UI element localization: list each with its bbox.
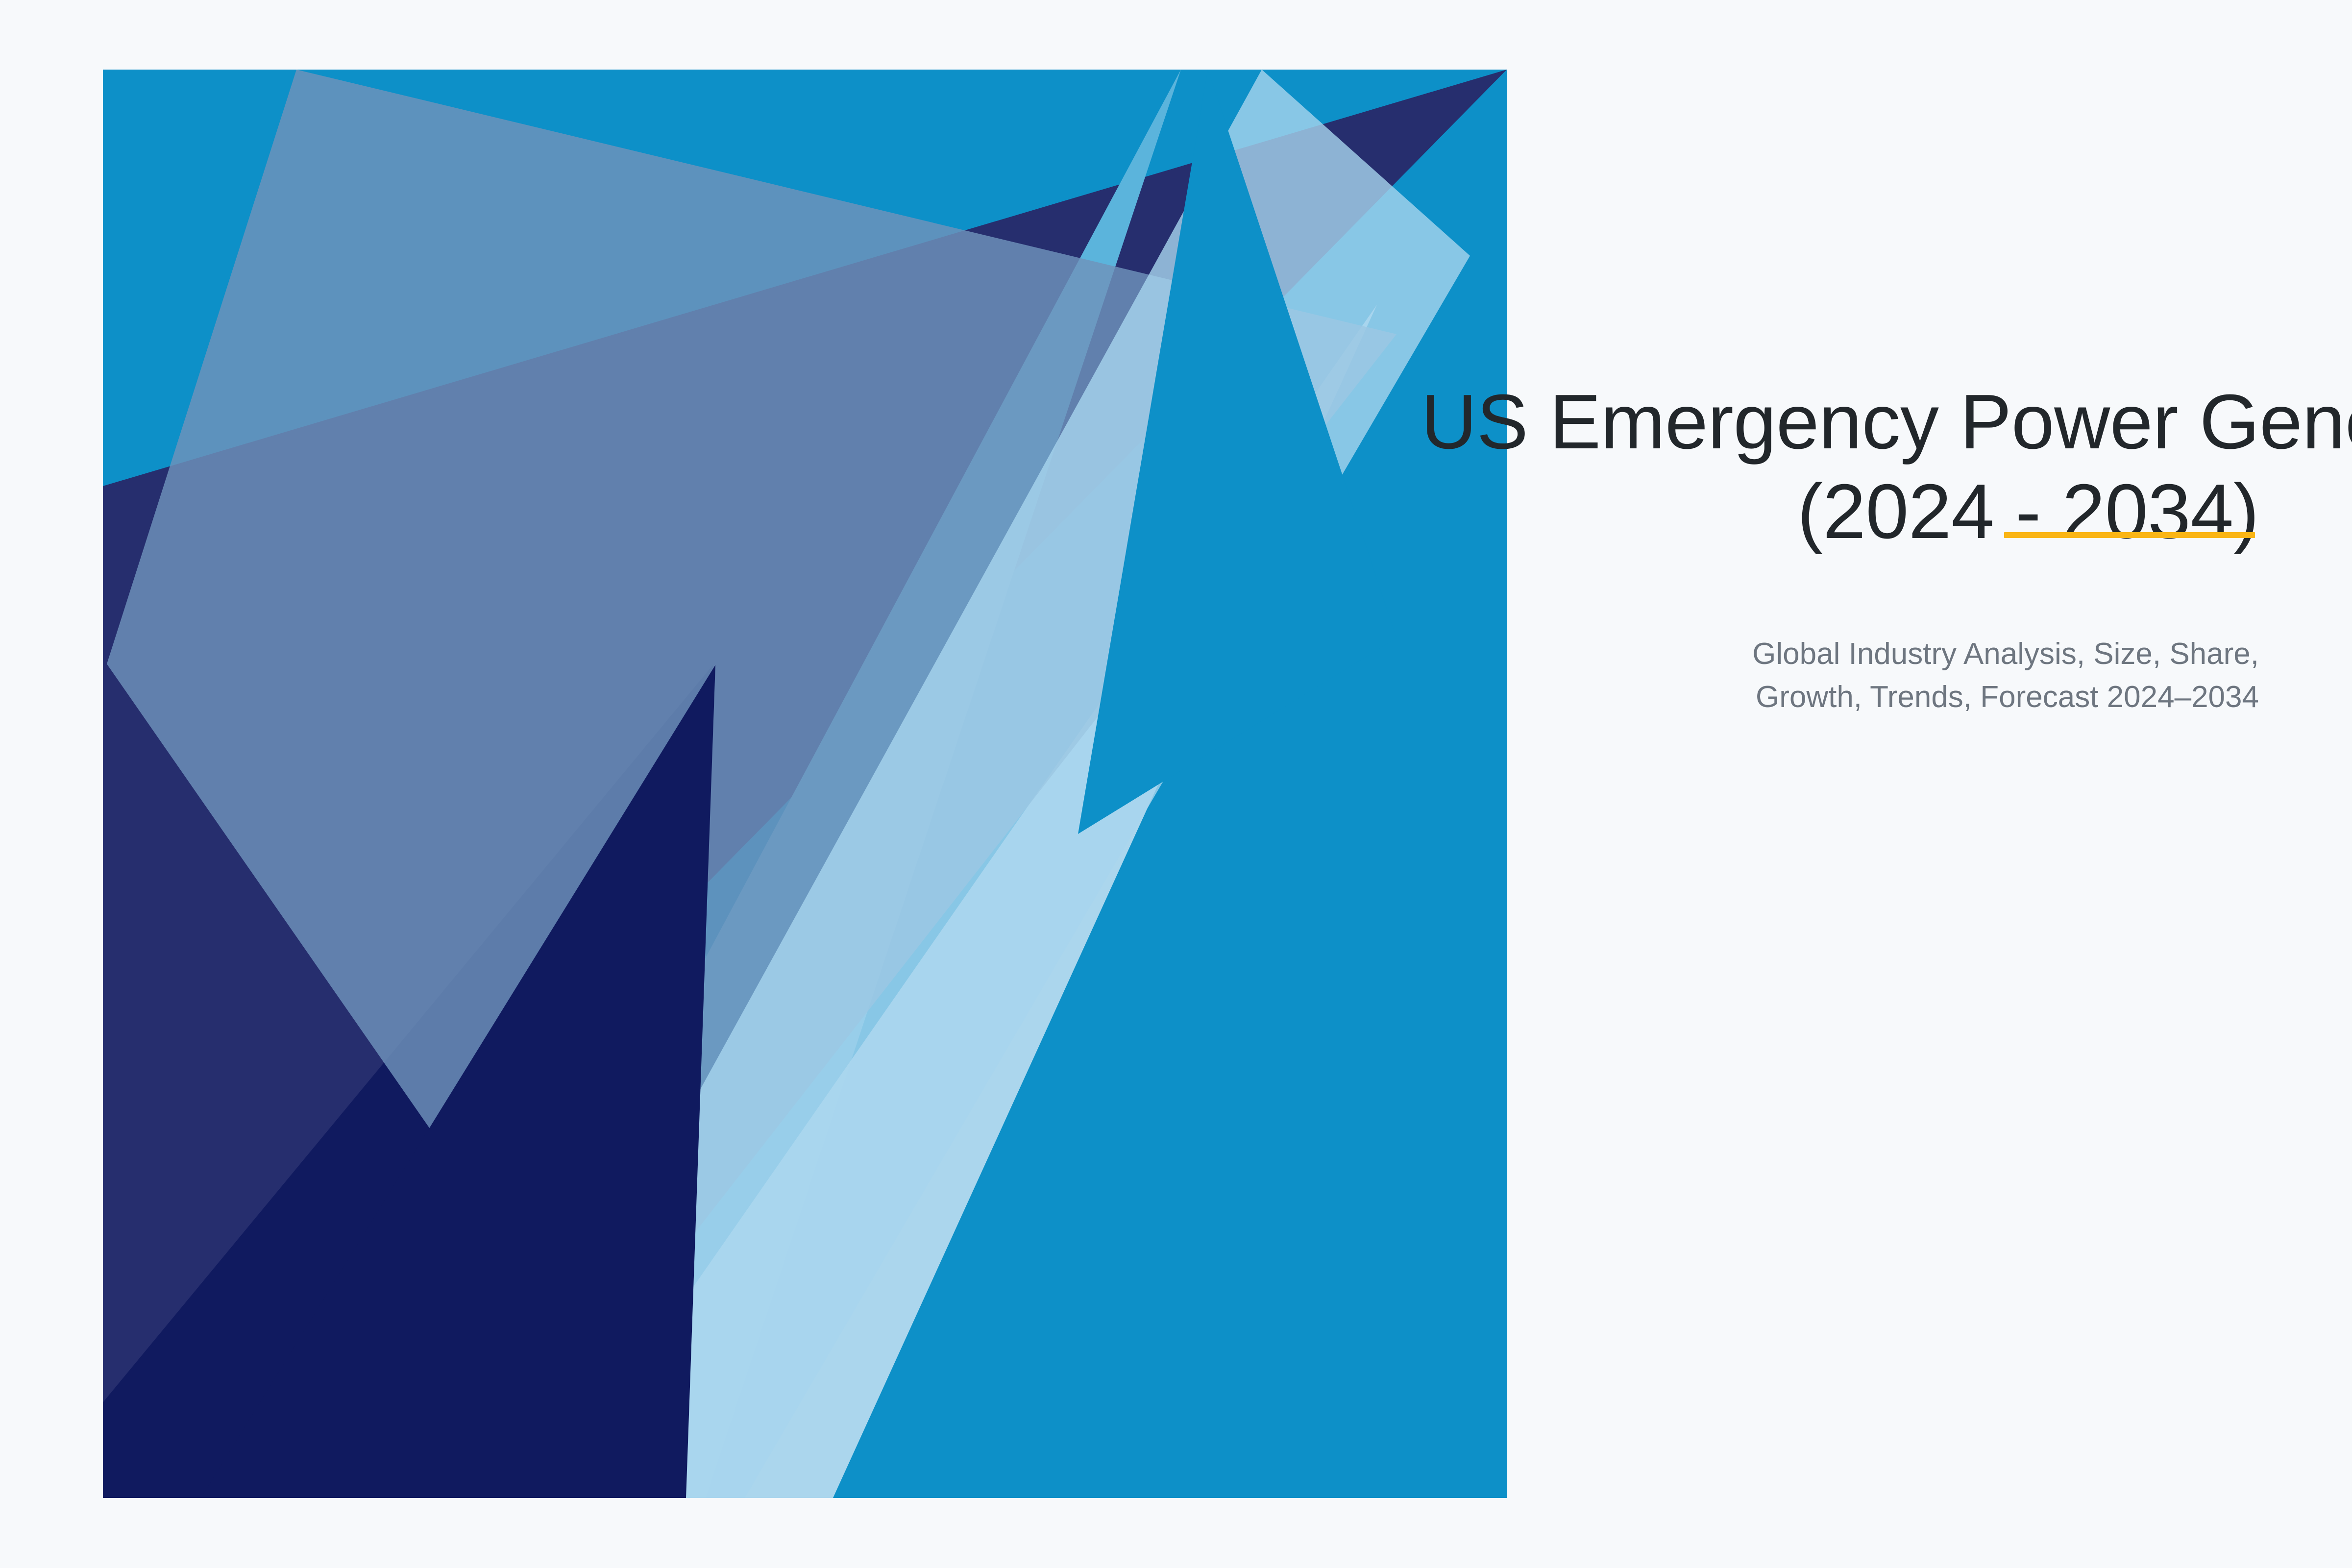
title-underline-accent-icon	[2004, 532, 2255, 538]
cover-text-block: US Emergency Power Generator Market (202…	[1421, 377, 2259, 719]
title-line-2: (2024 - 2034)	[1421, 467, 2259, 557]
subtitle-line-1: Global Industry Analysis, Size, Share,	[1421, 633, 2259, 676]
title-line-1: US Emergency Power Generator Market	[1421, 377, 2259, 467]
page-subtitle: Global Industry Analysis, Size, Share, G…	[1421, 633, 2259, 719]
report-cover-page: US Emergency Power Generator Market (202…	[0, 0, 2352, 1568]
abstract-geometric-banner	[103, 70, 1507, 1498]
subtitle-line-2: Growth, Trends, Forecast 2024–2034	[1421, 676, 2259, 719]
page-title: US Emergency Power Generator Market (202…	[1421, 377, 2259, 557]
